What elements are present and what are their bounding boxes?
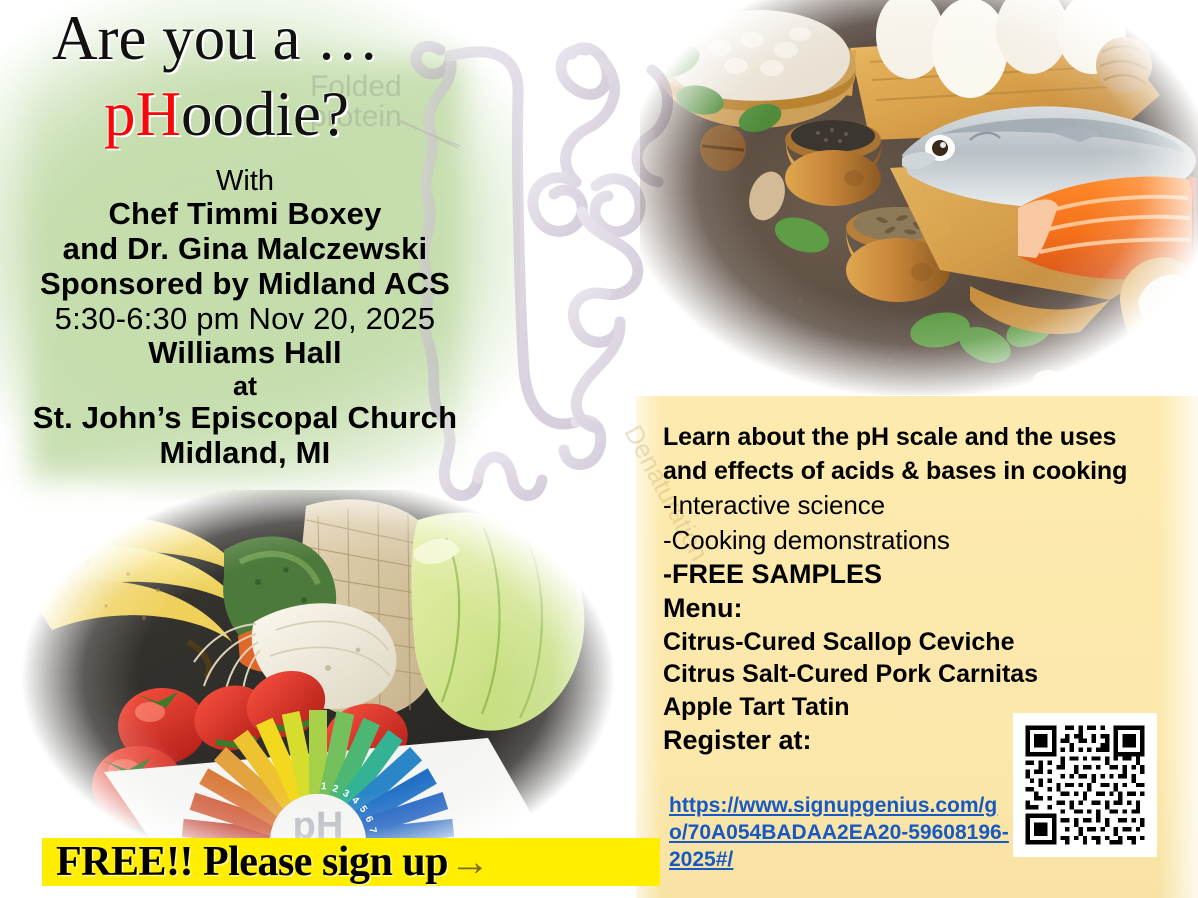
arrow-right-icon: → [450,842,490,882]
url-line-1: https://www.signupgenius.com/g [669,794,997,817]
poster-root: Folded protein Are you a … pHoodie? With… [0,0,1198,898]
food-ingredients-photo [640,0,1198,395]
info-bullet-2: -Cooking demonstrations [663,526,1163,555]
vegetables-ph-chart-photo: pH 1 2 3 4 5 6 7 8 9 10 11 12 [18,490,618,865]
info-bullet-1: -Interactive science [663,491,1163,520]
info-panel-text: Learn about the pH scale and the uses an… [663,424,1163,756]
event-details-block: With Chef Timmi Boxey and Dr. Gina Malcz… [20,165,470,471]
info-bullet-3: -FREE SAMPLES [663,560,1163,590]
event-presenter-1: Chef Timmi Boxey [20,197,470,232]
event-at-label: at [20,371,470,401]
event-sponsor: Sponsored by Midland ACS [20,267,470,302]
menu-item: Citrus-Cured Scallop Ceviche [663,629,1163,657]
free-signup-banner[interactable]: FREE!! Please sign up → [42,838,660,886]
headline-line-1: Are you a … [52,6,472,70]
registration-url-link[interactable]: https://www.signupgenius.com/g o/70A054B… [669,793,1019,874]
info-headline-2: and effects of acids & bases in cooking [663,458,1163,486]
event-church: St. John’s Episcopal Church [20,401,470,436]
headline-ph-highlight: pH [104,79,181,149]
menu-label: Menu: [663,594,1163,624]
qr-code[interactable] [1013,713,1157,857]
event-venue: Williams Hall [20,336,470,371]
event-with-label: With [20,165,470,197]
headline: Are you a … pHoodie? [52,6,472,147]
event-time-date: 5:30-6:30 pm Nov 20, 2025 [20,302,470,337]
menu-item: Citrus Salt-Cured Pork Carnitas [663,661,1163,689]
event-presenter-2: and Dr. Gina Malczewski [20,232,470,267]
headline-oodie: oodie? [181,79,349,149]
info-headline-1: Learn about the pH scale and the uses [663,424,1163,452]
event-city: Midland, MI [20,436,470,471]
headline-line-2: pHoodie? [104,82,472,146]
free-banner-text: FREE!! Please sign up [56,838,448,886]
url-line-2: o/70A054BADAA2EA20-59608196- [669,821,1009,844]
url-line-3: 2025#/ [669,848,733,871]
